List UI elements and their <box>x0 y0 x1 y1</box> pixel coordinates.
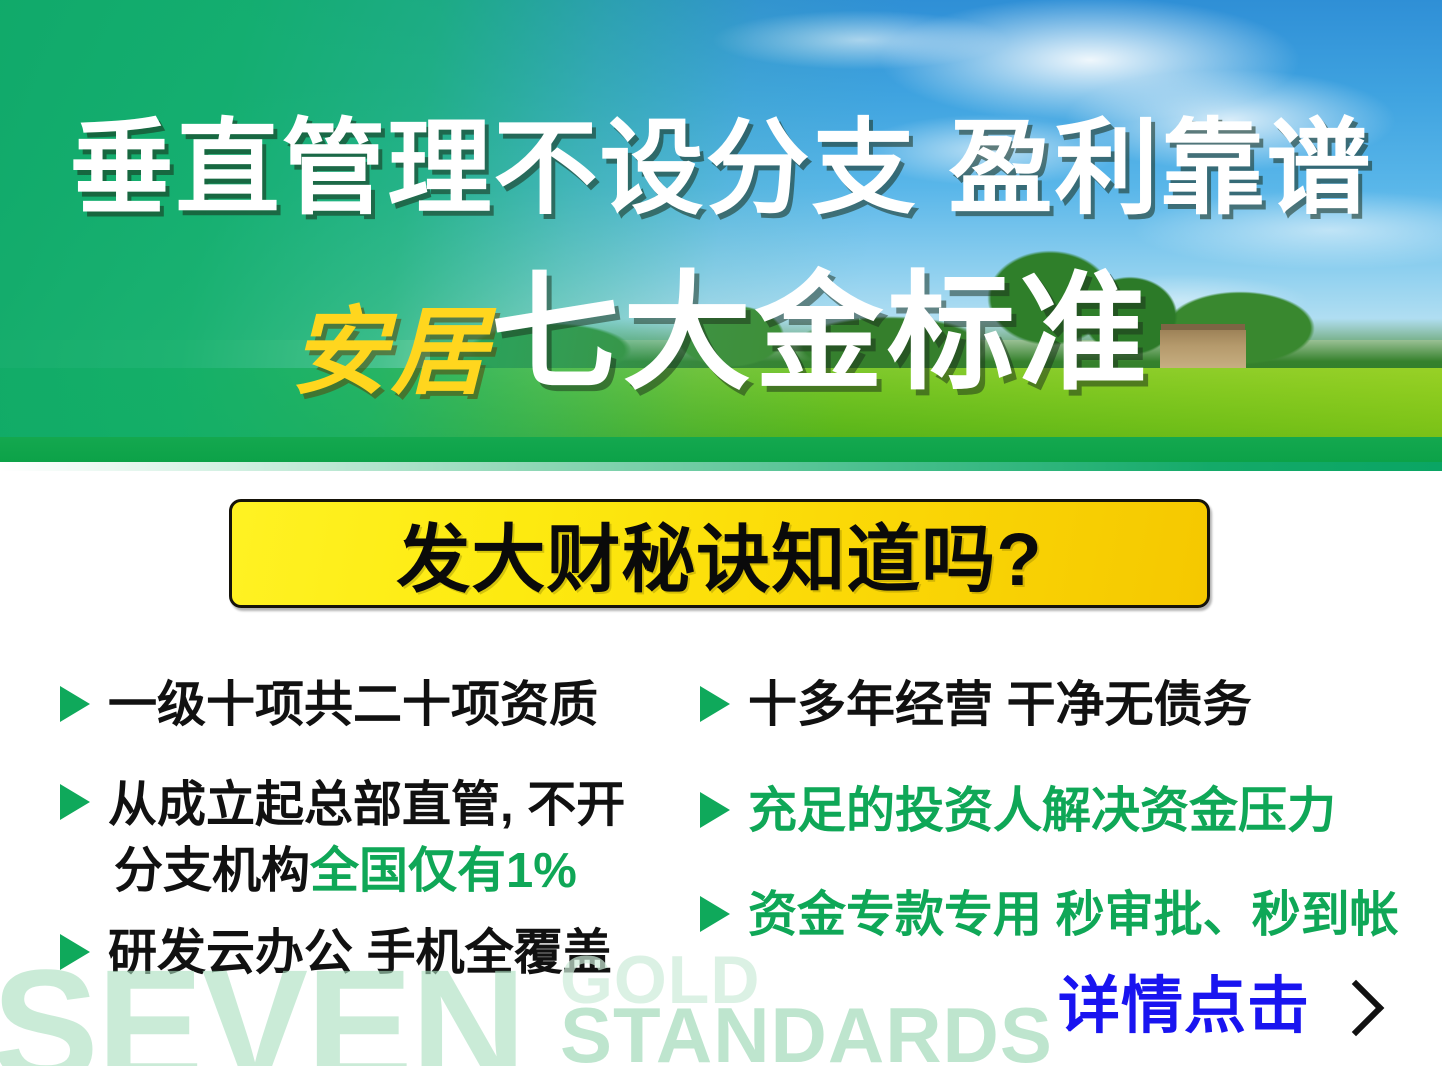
promo-banner: 垂直管理不设分支 盈利靠谱 安居七大金标准 发大财秘诀知道吗? 一级十项共二十项… <box>0 0 1442 1066</box>
hero-subheadline-row: 安居七大金标准 <box>0 268 1442 439</box>
triangle-bullet-icon <box>700 896 730 932</box>
triangle-bullet-icon <box>700 792 730 828</box>
feature-item-left-3: 研发云办公 手机全覆盖 <box>60 922 612 984</box>
hero-section: 垂直管理不设分支 盈利靠谱 安居七大金标准 <box>0 0 1442 462</box>
triangle-bullet-icon <box>60 686 90 722</box>
feature-text-right-3: 资金专款专用 秒审批、秒到帐 <box>748 884 1399 946</box>
feature-text-left-3: 研发云办公 手机全覆盖 <box>108 922 612 984</box>
cta-question-bar[interactable]: 发大财秘诀知道吗? <box>229 499 1210 608</box>
feature-text-left-2-highlight: 全国仅有1% <box>310 844 577 898</box>
feature-text-right-2: 充足的投资人解决资金压力 <box>748 780 1336 842</box>
triangle-bullet-icon <box>60 784 90 820</box>
feature-columns: 一级十项共二十项资质 从成立起总部直管, 不开 分支机构全国仅有1% 研发云办公… <box>0 660 1442 980</box>
triangle-bullet-icon <box>700 686 730 722</box>
triangle-bullet-icon <box>60 934 90 970</box>
detail-link-label: 详情点击 <box>1058 972 1310 1042</box>
feature-text-left-1: 一级十项共二十项资质 <box>108 674 598 736</box>
cta-question-text: 发大财秘诀知道吗? <box>396 500 1042 607</box>
brand-prefix-text: 安居 <box>291 299 491 406</box>
feature-text-left-2-line1: 从成立起总部直管, 不开 <box>108 778 625 832</box>
feature-item-right-3: 资金专款专用 秒审批、秒到帐 <box>700 884 1399 946</box>
detail-link[interactable]: 详情点击 <box>1058 972 1376 1042</box>
chevron-right-icon <box>1328 980 1385 1037</box>
feature-text-left-2-line2: 分支机构全国仅有1% <box>108 838 625 904</box>
feature-text-right-1: 十多年经营 干净无债务 <box>748 674 1252 736</box>
feature-item-left-2: 从成立起总部直管, 不开 分支机构全国仅有1% <box>60 772 625 904</box>
watermark-word-standards: STANDARDS <box>560 996 1053 1066</box>
feature-item-right-1: 十多年经营 干净无债务 <box>700 674 1252 736</box>
feature-text-left-2: 从成立起总部直管, 不开 分支机构全国仅有1% <box>108 772 625 904</box>
accent-divider-strip <box>0 462 1442 471</box>
feature-item-left-1: 一级十项共二十项资质 <box>60 674 598 736</box>
hero-headline: 垂直管理不设分支 盈利靠谱 <box>0 110 1442 228</box>
feature-item-right-2: 充足的投资人解决资金压力 <box>700 780 1336 842</box>
hero-bottom-green-bar <box>0 437 1442 462</box>
feature-text-left-2-plain: 分支机构 <box>114 844 310 898</box>
hero-subheadline: 七大金标准 <box>491 262 1151 405</box>
